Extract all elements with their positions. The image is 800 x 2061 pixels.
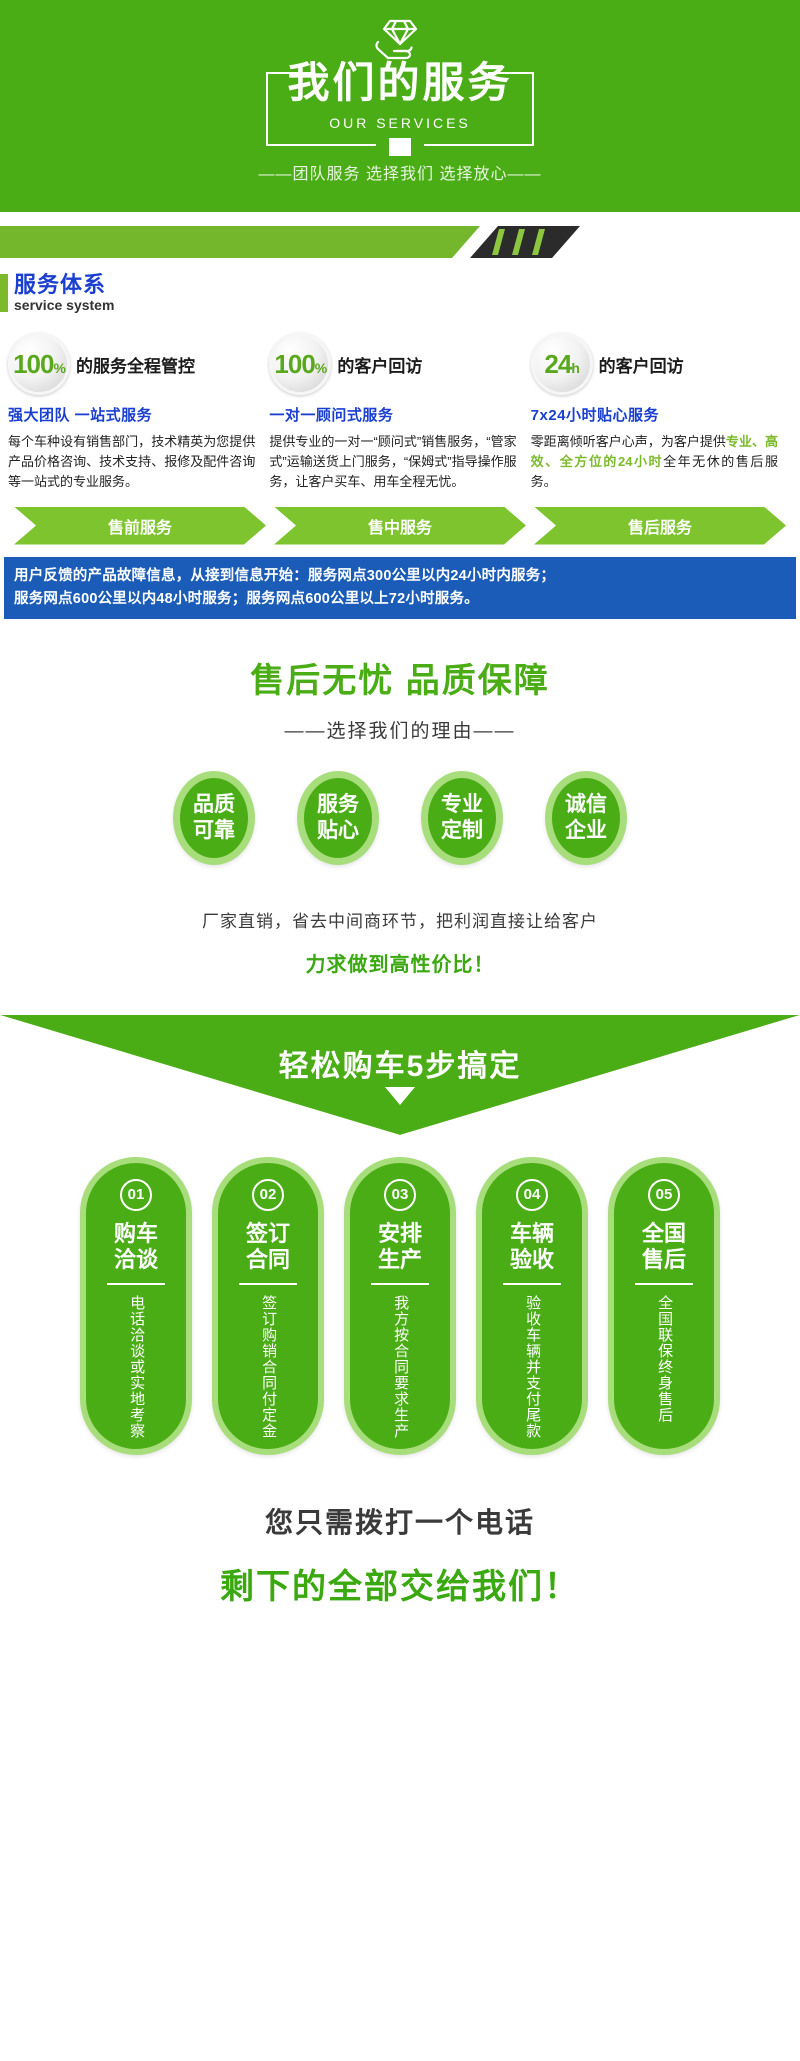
step-title-4: 车辆 验收 bbox=[510, 1221, 554, 1273]
hero-tagline: ——团队服务 选择我们 选择放心—— bbox=[0, 160, 800, 184]
reasons-title: 售后无忧 品质保障 bbox=[0, 653, 800, 702]
step-title-4-line1: 车辆 bbox=[510, 1221, 554, 1247]
reason-oval-3-line1: 专业 bbox=[441, 792, 483, 818]
service-body-3: 零距离倾听客户心声，为客户提供专业、高效、全方位的24小时全年无休的售后服务。 bbox=[531, 432, 792, 492]
service-response-notice: 用户反馈的产品故障信息，从接到信息开始：服务网点300公里以内24小时内服务； … bbox=[4, 557, 796, 619]
footer-cta: 您只需拨打一个电话 剩下的全部交给我们！ bbox=[0, 1501, 800, 1608]
step-number-2: 02 bbox=[252, 1179, 284, 1211]
service-title-3: 7x24小时贴心服务 bbox=[531, 404, 792, 425]
badge-tag-2: 的客户回访 bbox=[337, 352, 422, 377]
reason-oval-badges: 品质 可靠 服务 贴心 专业 定制 诚信 企业 bbox=[0, 771, 800, 865]
reason-oval-4-line2: 企业 bbox=[565, 818, 607, 844]
step-capsule-3: 03 安排 生产 我方按合同要求生产 bbox=[344, 1157, 456, 1455]
steps-banner-title: 轻松购车5步搞定 bbox=[0, 1041, 800, 1085]
step-title-5-line1: 全国 bbox=[642, 1221, 686, 1247]
promo-line-2: 力求做到高性价比！ bbox=[0, 948, 800, 977]
page-title: 我们的服务 bbox=[0, 62, 800, 104]
heading-chinese: 服务体系 bbox=[14, 272, 800, 297]
service-badge-circle-1: 100% bbox=[8, 333, 70, 395]
service-column-3: 24h 的客户回访 7x24小时贴心服务 零距离倾听客户心声，为客户提供专业、高… bbox=[531, 332, 792, 492]
step-title-2: 签订 合同 bbox=[246, 1221, 290, 1273]
step-divider-2 bbox=[239, 1283, 297, 1285]
badge-tag-3: 的客户回访 bbox=[599, 352, 684, 377]
reason-oval-1-line1: 品质 bbox=[193, 792, 235, 818]
hero-section: 我们的服务 OUR SERVICES ——团队服务 选择我们 选择放心—— bbox=[0, 0, 800, 212]
caret-down-icon bbox=[385, 1087, 415, 1105]
badge-value-2: 100% bbox=[274, 351, 326, 377]
step-number-1: 01 bbox=[120, 1179, 152, 1211]
step-desc-5: 全国联保终身售后 bbox=[654, 1295, 674, 1445]
step-number-4: 04 bbox=[516, 1179, 548, 1211]
reason-oval-2-line2: 贴心 bbox=[317, 818, 359, 844]
steps-banner: 轻松购车5步搞定 bbox=[0, 1015, 800, 1135]
reason-oval-1-line2: 可靠 bbox=[193, 818, 235, 844]
step-title-1-line2: 洽谈 bbox=[114, 1247, 158, 1273]
page-subtitle: OUR SERVICES bbox=[0, 115, 800, 131]
step-title-1-line1: 购车 bbox=[114, 1221, 158, 1247]
step-title-5-line2: 售后 bbox=[642, 1247, 686, 1273]
service-body-2: 提供专业的一对一“顾问式”销售服务，“管家式”运输送货上门服务，“保姆式”指导操… bbox=[269, 432, 530, 492]
notice-line-2: 服务网点600公里以内48小时服务；服务网点600公里以上72小时服务。 bbox=[14, 588, 786, 611]
step-title-4-line2: 验收 bbox=[510, 1247, 554, 1273]
service-badge-circle-2: 100% bbox=[269, 333, 331, 395]
step-number-5: 05 bbox=[648, 1179, 680, 1211]
step-title-2-line2: 合同 bbox=[246, 1247, 290, 1273]
step-title-1: 购车 洽谈 bbox=[114, 1221, 158, 1273]
step-title-2-line1: 签订 bbox=[246, 1221, 290, 1247]
service-system-heading: 服务体系 service system bbox=[0, 272, 800, 314]
section-banner-decoration bbox=[0, 218, 800, 266]
phase-arrow-aftersale[interactable]: 售后服务 bbox=[534, 507, 786, 545]
step-desc-3: 我方按合同要求生产 bbox=[390, 1295, 410, 1445]
cta-line-2: 剩下的全部交给我们！ bbox=[0, 1559, 800, 1608]
step-capsule-2: 02 签订 合同 签订购销合同付定金 bbox=[212, 1157, 324, 1455]
step-divider-1 bbox=[107, 1283, 165, 1285]
heading-accent-bar bbox=[0, 274, 8, 312]
cta-line-1: 您只需拨打一个电话 bbox=[0, 1501, 800, 1541]
reason-oval-4-line1: 诚信 bbox=[565, 792, 607, 818]
step-title-3: 安排 生产 bbox=[378, 1221, 422, 1273]
reasons-subtitle: ——选择我们的理由—— bbox=[0, 716, 800, 743]
reason-oval-3-line2: 定制 bbox=[441, 818, 483, 844]
reason-oval-4: 诚信 企业 bbox=[545, 771, 627, 865]
reason-oval-2: 服务 贴心 bbox=[297, 771, 379, 865]
service-column-1: 100% 的服务全程管控 强大团队 一站式服务 每个车种设有销售部门，技术精英为… bbox=[8, 332, 269, 492]
badge-value-3: 24h bbox=[544, 351, 578, 377]
service-body-3-part1: 零距离倾听客户心声，为客户提供 bbox=[531, 434, 726, 449]
step-capsule-1: 01 购车 洽谈 电话洽谈或实地考察 bbox=[80, 1157, 192, 1455]
heading-english: service system bbox=[14, 297, 800, 314]
reason-oval-3: 专业 定制 bbox=[421, 771, 503, 865]
phase-arrow-insale[interactable]: 售中服务 bbox=[274, 507, 526, 545]
reason-oval-1: 品质 可靠 bbox=[173, 771, 255, 865]
service-body-3-highlight2: 24小时 bbox=[618, 454, 663, 469]
step-divider-3 bbox=[371, 1283, 429, 1285]
service-phase-arrows: 售前服务 售中服务 售后服务 bbox=[0, 507, 800, 545]
service-title-1: 强大团队 一站式服务 bbox=[8, 404, 269, 425]
step-title-3-line1: 安排 bbox=[378, 1221, 422, 1247]
notice-line-1: 用户反馈的产品故障信息，从接到信息开始：服务网点300公里以内24小时内服务； bbox=[14, 565, 786, 588]
phase-arrow-presale[interactable]: 售前服务 bbox=[14, 507, 266, 545]
step-divider-5 bbox=[635, 1283, 693, 1285]
service-column-2: 100% 的客户回访 一对一顾问式服务 提供专业的一对一“顾问式”销售服务，“管… bbox=[269, 332, 530, 492]
promo-line-1: 厂家直销，省去中间商环节，把利润直接让给客户 bbox=[0, 907, 800, 932]
service-columns: 100% 的服务全程管控 强大团队 一站式服务 每个车种设有销售部门，技术精英为… bbox=[0, 332, 800, 492]
service-title-2: 一对一顾问式服务 bbox=[269, 404, 530, 425]
step-number-3: 03 bbox=[384, 1179, 416, 1211]
badge-value-1: 100% bbox=[13, 351, 65, 377]
service-badge-circle-3: 24h bbox=[531, 333, 593, 395]
reasons-heading: 售后无忧 品质保障 ——选择我们的理由—— bbox=[0, 653, 800, 743]
step-title-3-line2: 生产 bbox=[378, 1247, 422, 1273]
step-capsule-4: 04 车辆 验收 验收车辆并支付尾款 bbox=[476, 1157, 588, 1455]
banner-dark-shape bbox=[470, 226, 580, 258]
reason-oval-2-line1: 服务 bbox=[317, 792, 359, 818]
hero-title-tab bbox=[389, 138, 411, 156]
banner-green-shape bbox=[0, 226, 480, 258]
step-desc-2: 签订购销合同付定金 bbox=[258, 1295, 278, 1445]
step-title-5: 全国 售后 bbox=[642, 1221, 686, 1273]
purchase-steps: 01 购车 洽谈 电话洽谈或实地考察 02 签订 合同 签订购销合同付定金 03… bbox=[0, 1157, 800, 1455]
service-body-1: 每个车种设有销售部门，技术精英为您提供产品价格咨询、技术支持、报修及配件咨询等一… bbox=[8, 432, 269, 492]
step-divider-4 bbox=[503, 1283, 561, 1285]
badge-tag-1: 的服务全程管控 bbox=[76, 352, 195, 377]
step-desc-4: 验收车辆并支付尾款 bbox=[522, 1295, 542, 1445]
step-capsule-5: 05 全国 售后 全国联保终身售后 bbox=[608, 1157, 720, 1455]
step-desc-1: 电话洽谈或实地考察 bbox=[126, 1295, 146, 1445]
